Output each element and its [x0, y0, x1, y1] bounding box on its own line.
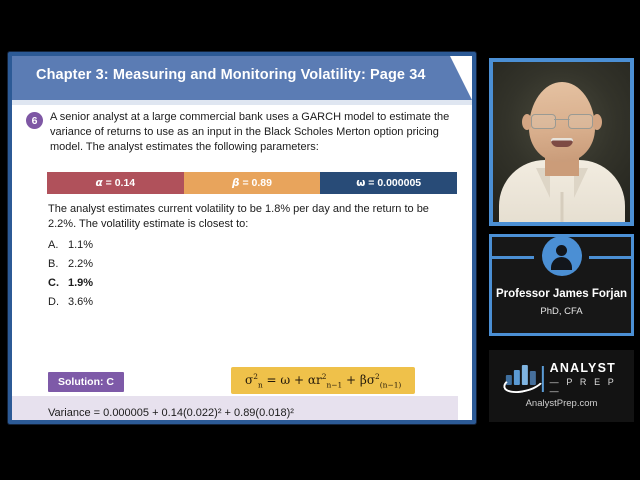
- calc-variance-expression: 0.000005 + 0.14(0.022)² + 0.89(0.018)²: [103, 407, 294, 419]
- presenter-video-feed[interactable]: [493, 62, 630, 222]
- parameter-symbol-beta: β: [232, 177, 240, 189]
- calculation-lines: Variance = 0.000005 + 0.14(0.022)² + 0.8…: [48, 404, 294, 420]
- slide-frame: Chapter 3: Measuring and Monitoring Vola…: [8, 52, 476, 424]
- presenter-name-plate: Professor James Forjan PhD, CFA: [489, 234, 634, 336]
- parameter-cell-omega: ω = 0.000005: [320, 172, 457, 194]
- follow-up-text: The analyst estimates current volatility…: [48, 202, 460, 232]
- formula-text: σ2n = ω + αr2n−1 + βσ2(n−1): [245, 373, 401, 387]
- lens-right: [568, 114, 593, 129]
- video-player-stage: Chapter 3: Measuring and Monitoring Vola…: [0, 0, 640, 480]
- presentation-slide: Chapter 3: Measuring and Monitoring Vola…: [12, 56, 472, 420]
- shirt-placket: [560, 192, 563, 222]
- answer-options-list: A. 1.1% B. 2.2% C. 1.9% D. 3.6%: [48, 236, 308, 312]
- answer-option-a[interactable]: A. 1.1%: [48, 236, 308, 255]
- presenter-credentials: PhD, CFA: [489, 306, 634, 317]
- nameplate-rule-left: [492, 256, 534, 259]
- nameplate-border-right: [631, 234, 634, 336]
- answer-letter-a: A.: [48, 236, 68, 255]
- calculation-panel: Variance = 0.000005 + 0.14(0.022)² + 0.8…: [12, 396, 458, 420]
- garch-formula-box: σ2n = ω + αr2n−1 + βσ2(n−1): [231, 367, 415, 394]
- parameter-cell-alpha: α = 0.14: [47, 172, 184, 194]
- person-avatar-icon: [542, 236, 582, 276]
- page-title: Chapter 3: Measuring and Monitoring Vola…: [36, 67, 426, 83]
- nameplate-border-left: [489, 234, 492, 336]
- calc-line-variance-expression: Variance = 0.000005 + 0.14(0.022)² + 0.8…: [48, 404, 294, 420]
- nameplate-border-bottom: [489, 333, 634, 336]
- answer-letter-c: C.: [48, 274, 68, 293]
- answer-option-c[interactable]: C. 1.9%: [48, 274, 308, 293]
- nameplate-rule-right: [589, 256, 631, 259]
- parameter-equals-beta: =: [240, 177, 252, 189]
- parameter-value-alpha: 0.14: [115, 177, 135, 189]
- parameter-symbol-omega: ω: [356, 177, 365, 189]
- banner-corner-cut: [450, 56, 472, 100]
- brand-url: AnalystPrep.com: [489, 398, 634, 409]
- parameter-symbol-alpha: α: [96, 177, 103, 189]
- solution-badge: Solution: C: [48, 372, 124, 392]
- parameter-equals-omega: =: [365, 177, 377, 189]
- brand-logo-area: ANALYST — P R E P — AnalystPrep.com: [489, 350, 634, 422]
- answer-text-a: 1.1%: [68, 236, 93, 255]
- answer-letter-b: B.: [48, 255, 68, 274]
- calc-variance-label: Variance =: [48, 407, 103, 419]
- presenter-name: Professor James Forjan: [489, 288, 634, 300]
- parameter-equals-alpha: =: [103, 177, 115, 189]
- answer-option-d[interactable]: D. 3.6%: [48, 293, 308, 312]
- logo-swoosh-icon: [501, 368, 546, 397]
- avatar-head: [556, 245, 567, 256]
- question-number-badge: 6: [26, 112, 43, 129]
- logo-text-analyst: ANALYST: [550, 362, 622, 375]
- logo-wordmark: ANALYST — P R E P —: [550, 362, 622, 396]
- presenter-mouth: [551, 138, 573, 147]
- slide-title-banner: Chapter 3: Measuring and Monitoring Vola…: [12, 56, 472, 100]
- avatar-body: [551, 257, 572, 270]
- parameters-table: α = 0.14 β = 0.89 ω = 0.000005: [47, 172, 457, 194]
- webcam-frame: [489, 58, 634, 226]
- answer-letter-d: D.: [48, 293, 68, 312]
- parameter-value-omega: 0.000005: [377, 177, 421, 189]
- answer-text-b: 2.2%: [68, 255, 93, 274]
- answer-option-b[interactable]: B. 2.2%: [48, 255, 308, 274]
- parameter-cell-beta: β = 0.89: [184, 172, 321, 194]
- question-text: A senior analyst at a large commercial b…: [50, 110, 456, 156]
- parameter-value-beta: 0.89: [252, 177, 272, 189]
- logo-lockup: ANALYST — P R E P —: [501, 362, 621, 396]
- presenter-ear-right: [592, 114, 602, 130]
- lens-left: [531, 114, 556, 129]
- answer-text-d: 3.6%: [68, 293, 93, 312]
- logo-text-prep: — P R E P —: [550, 378, 622, 396]
- title-underline: [12, 100, 472, 105]
- bar-chart-logo-icon: [501, 364, 536, 394]
- answer-text-c: 1.9%: [68, 274, 93, 293]
- eyeglasses-icon: [531, 114, 593, 127]
